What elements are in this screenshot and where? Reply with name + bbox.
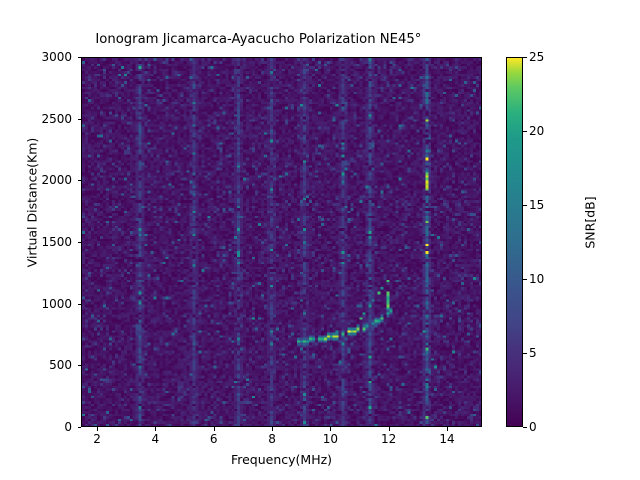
colorbar-tick-label: 5 <box>529 346 537 360</box>
y-tick-label: 3000 <box>12 50 72 64</box>
x-tick-mark <box>214 427 215 431</box>
y-tick-mark <box>78 180 82 181</box>
y-tick-mark <box>78 427 82 428</box>
x-tick-label: 10 <box>310 432 350 446</box>
title-line-1: Ionogram Jicamarca-Ayacucho Polarization… <box>95 32 421 47</box>
colorbar-tick-mark <box>523 57 527 58</box>
y-tick-mark <box>78 57 82 58</box>
colorbar-tick-mark <box>523 131 527 132</box>
x-tick-mark <box>155 427 156 431</box>
y-tick-label: 0 <box>12 420 72 434</box>
x-tick-mark <box>97 427 98 431</box>
x-tick-label: 4 <box>135 432 175 446</box>
colorbar-tick-mark <box>523 427 527 428</box>
y-tick-label: 1500 <box>12 235 72 249</box>
y-axis-label: Virtual Distance(Km) <box>25 103 40 303</box>
colorbar-tick-label: 0 <box>529 420 537 434</box>
x-tick-mark <box>272 427 273 431</box>
y-tick-label: 2500 <box>12 112 72 126</box>
plot-area <box>81 57 482 427</box>
x-tick-label: 6 <box>194 432 234 446</box>
y-tick-label: 500 <box>12 358 72 372</box>
x-tick-mark <box>330 427 331 431</box>
x-tick-label: 8 <box>252 432 292 446</box>
x-tick-mark <box>447 427 448 431</box>
ionogram-heatmap-canvas <box>82 58 481 426</box>
x-tick-mark <box>389 427 390 431</box>
y-tick-label: 1000 <box>12 297 72 311</box>
x-tick-label: 14 <box>427 432 467 446</box>
colorbar-tick-mark <box>523 279 527 280</box>
colorbar <box>506 57 523 427</box>
y-tick-mark <box>78 119 82 120</box>
x-tick-label: 2 <box>77 432 117 446</box>
ionogram-figure: Ionogram Jicamarca-Ayacucho Polarization… <box>0 0 640 480</box>
colorbar-tick-label: 20 <box>529 124 544 138</box>
y-tick-label: 2000 <box>12 173 72 187</box>
x-tick-label: 12 <box>369 432 409 446</box>
colorbar-tick-label: 15 <box>529 198 544 212</box>
colorbar-tick-mark <box>523 205 527 206</box>
y-tick-mark <box>78 365 82 366</box>
y-tick-mark <box>78 304 82 305</box>
x-axis-label: Frequency(MHz) <box>81 452 482 467</box>
colorbar-label: SNR[dB] <box>583 133 598 313</box>
colorbar-tick-mark <box>523 353 527 354</box>
colorbar-tick-label: 10 <box>529 272 544 286</box>
colorbar-tick-label: 25 <box>529 50 544 64</box>
y-tick-mark <box>78 242 82 243</box>
